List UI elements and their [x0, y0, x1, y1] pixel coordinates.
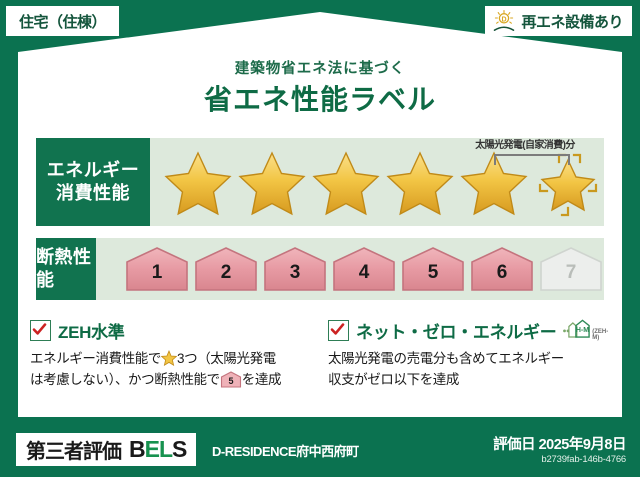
insulation-grade-4: 4: [331, 245, 397, 293]
energy-stars-area: 太陽光発電(自家消費)分: [150, 138, 604, 226]
solar-bracket: [494, 154, 570, 165]
insulation-grade-2: 2: [193, 245, 259, 293]
energy-label-line1: エネルギー: [47, 159, 140, 182]
evaluation-date-label: 評価日: [493, 437, 535, 453]
zeh-desc-1: エネルギー消費性能で: [30, 351, 161, 366]
zeh-desc-4: を達成: [242, 372, 281, 387]
insulation-grade-5-num: 5: [400, 262, 466, 284]
bels-certification-box: 第三者評価 BELS: [16, 433, 196, 466]
evaluation-date: 評価日 2025年9月8日: [493, 433, 626, 454]
net-zero-heading: ネット・ゼロ・エネルギー H-M (ZEH-M): [328, 318, 608, 342]
inline-star-icon: [161, 350, 177, 366]
svg-text:H-M: H-M: [576, 327, 589, 334]
insulation-grade-2-num: 2: [193, 262, 259, 284]
energy-performance-label-cell: エネルギー 消費性能: [36, 138, 150, 226]
sun-solar-icon: D: [491, 9, 517, 33]
star-icon-2: [236, 147, 308, 217]
building-type-text: 住宅（住棟）: [19, 11, 106, 32]
star-icon-4: [384, 147, 456, 217]
insulation-label-cell: 断熱性能: [36, 238, 96, 300]
insulation-grade-scale: 1 2 3 4 5: [96, 245, 604, 293]
zeh-m-caption: (ZEH-M): [592, 329, 612, 343]
renewable-equipment-badge: D 再エネ設備あり: [485, 6, 632, 36]
star-icon-3: [310, 147, 382, 217]
zeh-desc-3: は考慮しない）、かつ断熱性能で: [30, 372, 220, 387]
energy-performance-label: 住宅（住棟） D 再エネ設備あり 建築物省エネ法に基づく 省エネ性能ラベ: [0, 0, 640, 477]
net-zero-title: ネット・ゼロ・エネルギー: [356, 318, 556, 343]
insulation-grade-1-num: 1: [124, 262, 190, 284]
bels-letter-s: S: [172, 436, 186, 462]
energy-performance-row: エネルギー 消費性能: [36, 138, 604, 226]
net-zero-desc-2: 収支がゼロ以下を達成: [328, 372, 459, 387]
checkbox-checked-icon: [30, 320, 51, 341]
bels-letter-el: EL: [145, 436, 172, 462]
net-zero-energy-block: ネット・ゼロ・エネルギー H-M (ZEH-M) 太陽光発電の売電分も含めてエネ…: [328, 318, 608, 391]
label-footer: 第三者評価 BELS D-RESIDENCE府中西府町 評価日 2025年9月8…: [0, 425, 640, 477]
inline-insulation-badge-icon: 5: [220, 371, 242, 388]
bels-letter-b: B: [129, 436, 145, 462]
insulation-performance-row: 断熱性能 1 2 3 4: [36, 238, 604, 300]
label-subtitle: 建築物省エネ法に基づく: [0, 57, 640, 78]
evaluation-id: b2739fab-146b-4766: [541, 454, 626, 465]
insulation-label-text: 断熱性能: [36, 246, 96, 292]
net-zero-description: 太陽光発電の売電分も含めてエネルギー 収支がゼロ以下を達成: [328, 349, 608, 391]
checkbox-checked-icon-2: [328, 320, 349, 341]
zeh-heading: ZEH水準: [30, 318, 310, 342]
insulation-grade-7-num: 7: [538, 262, 604, 284]
renewable-badge-text: 再エネ設備あり: [521, 11, 623, 32]
zeh-title: ZEH水準: [58, 318, 125, 343]
insulation-grades-area: 1 2 3 4 5: [96, 238, 604, 300]
zeh-description: エネルギー消費性能で3つ（太陽光発電 は考慮しない）、かつ断熱性能で5を達成: [30, 349, 310, 391]
building-type-tag: 住宅（住棟）: [6, 6, 119, 36]
bels-logo: BELS: [129, 436, 186, 463]
zeh-standard-block: ZEH水準 エネルギー消費性能で3つ（太陽光発電 は考慮しない）、かつ断熱性能で…: [30, 318, 310, 391]
zeh-m-house-icon: H-M: [561, 317, 591, 343]
insulation-grade-3: 3: [262, 245, 328, 293]
insulation-grade-6: 6: [469, 245, 535, 293]
insulation-grade-3-num: 3: [262, 262, 328, 284]
zeh-m-logo: H-M (ZEH-M): [561, 317, 612, 343]
inline-badge-num: 5: [220, 375, 242, 389]
energy-label-line2: 消費性能: [56, 182, 130, 205]
third-party-eval-text: 第三者評価: [26, 435, 121, 464]
star-icon-1: [162, 147, 234, 217]
zeh-desc-2: 3つ（太陽光発電: [177, 351, 276, 366]
label-title: 省エネ性能ラベル: [0, 78, 640, 118]
evaluation-date-value: 2025年9月8日: [539, 437, 626, 453]
insulation-grade-5: 5: [400, 245, 466, 293]
net-zero-desc-1: 太陽光発電の売電分も含めてエネルギー: [328, 351, 564, 366]
insulation-grade-4-num: 4: [331, 262, 397, 284]
insulation-grade-1: 1: [124, 245, 190, 293]
insulation-grade-7: 7: [538, 245, 604, 293]
property-name: D-RESIDENCE府中西府町: [212, 441, 359, 460]
insulation-grade-6-num: 6: [469, 262, 535, 284]
svg-text:D: D: [502, 16, 507, 23]
solar-generation-note: 太陽光発電(自家消費)分: [450, 136, 600, 151]
